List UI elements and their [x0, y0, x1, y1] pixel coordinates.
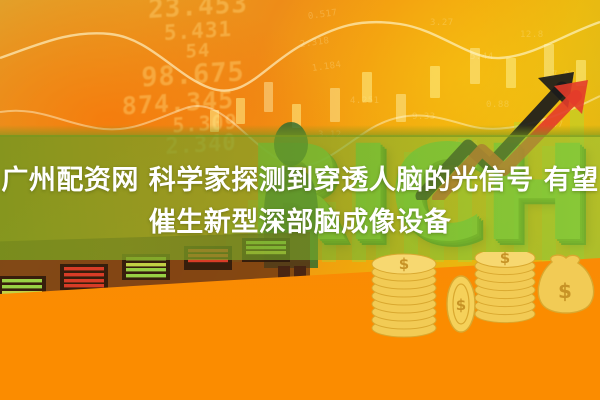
coin-stack: $: [372, 254, 436, 337]
svg-text:$: $: [558, 279, 572, 303]
coin-stack: $: [475, 252, 535, 323]
svg-text:$: $: [456, 296, 466, 314]
svg-text:$: $: [399, 255, 409, 273]
coins-and-money-bags: $ $ $ $ $: [360, 252, 600, 372]
svg-text:$: $: [500, 252, 510, 267]
article-banner: 23.453 5.431 54 98.675 874.345 5.309 2.3…: [0, 0, 600, 400]
headline-line-1: 广州配资网 科学家探测到穿透人脑的光信号 有望: [0, 160, 600, 202]
headline: 广州配资网 科学家探测到穿透人脑的光信号 有望 催生新型深部脑成像设备: [0, 160, 600, 244]
headline-line-2: 催生新型深部脑成像设备: [0, 202, 600, 244]
coin: $: [447, 276, 475, 332]
money-bag: $: [538, 255, 593, 313]
